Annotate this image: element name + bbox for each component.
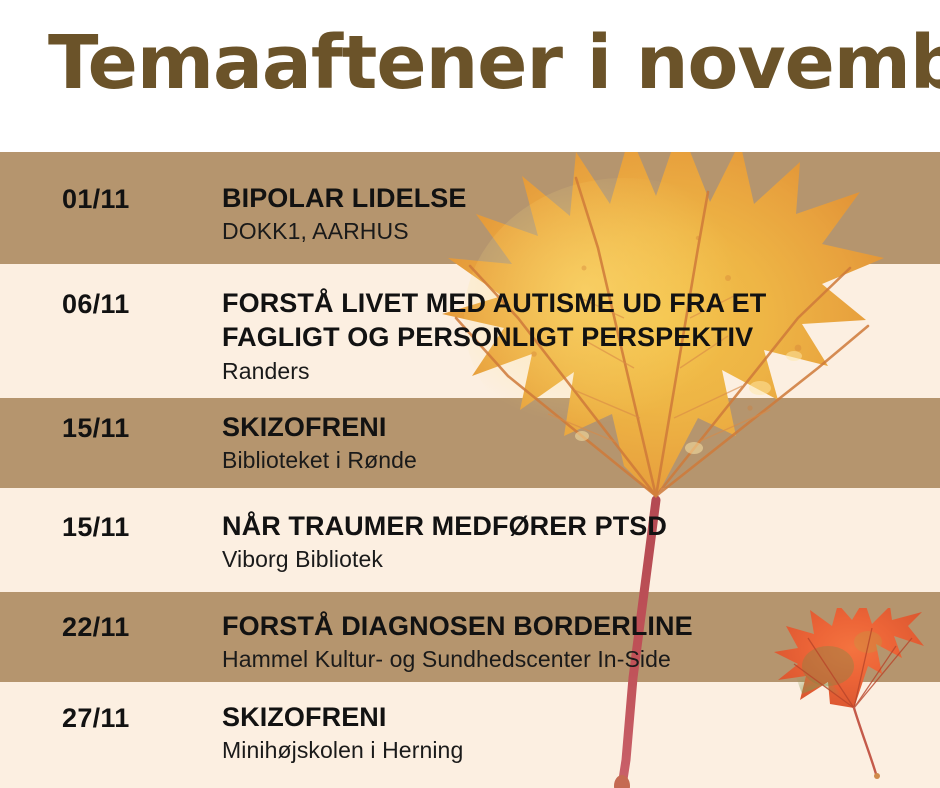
page-title: Temaaftener i november: [48, 26, 940, 100]
event-band: [0, 488, 940, 592]
event-band: [0, 264, 940, 398]
event-band: [0, 682, 940, 788]
poster-canvas: Temaaftener i november 01/11 BIPOLAR LID…: [0, 0, 940, 788]
event-band: [0, 152, 940, 264]
poster-header: Temaaftener i november: [0, 0, 940, 152]
event-band: [0, 398, 940, 488]
event-band: [0, 592, 940, 682]
